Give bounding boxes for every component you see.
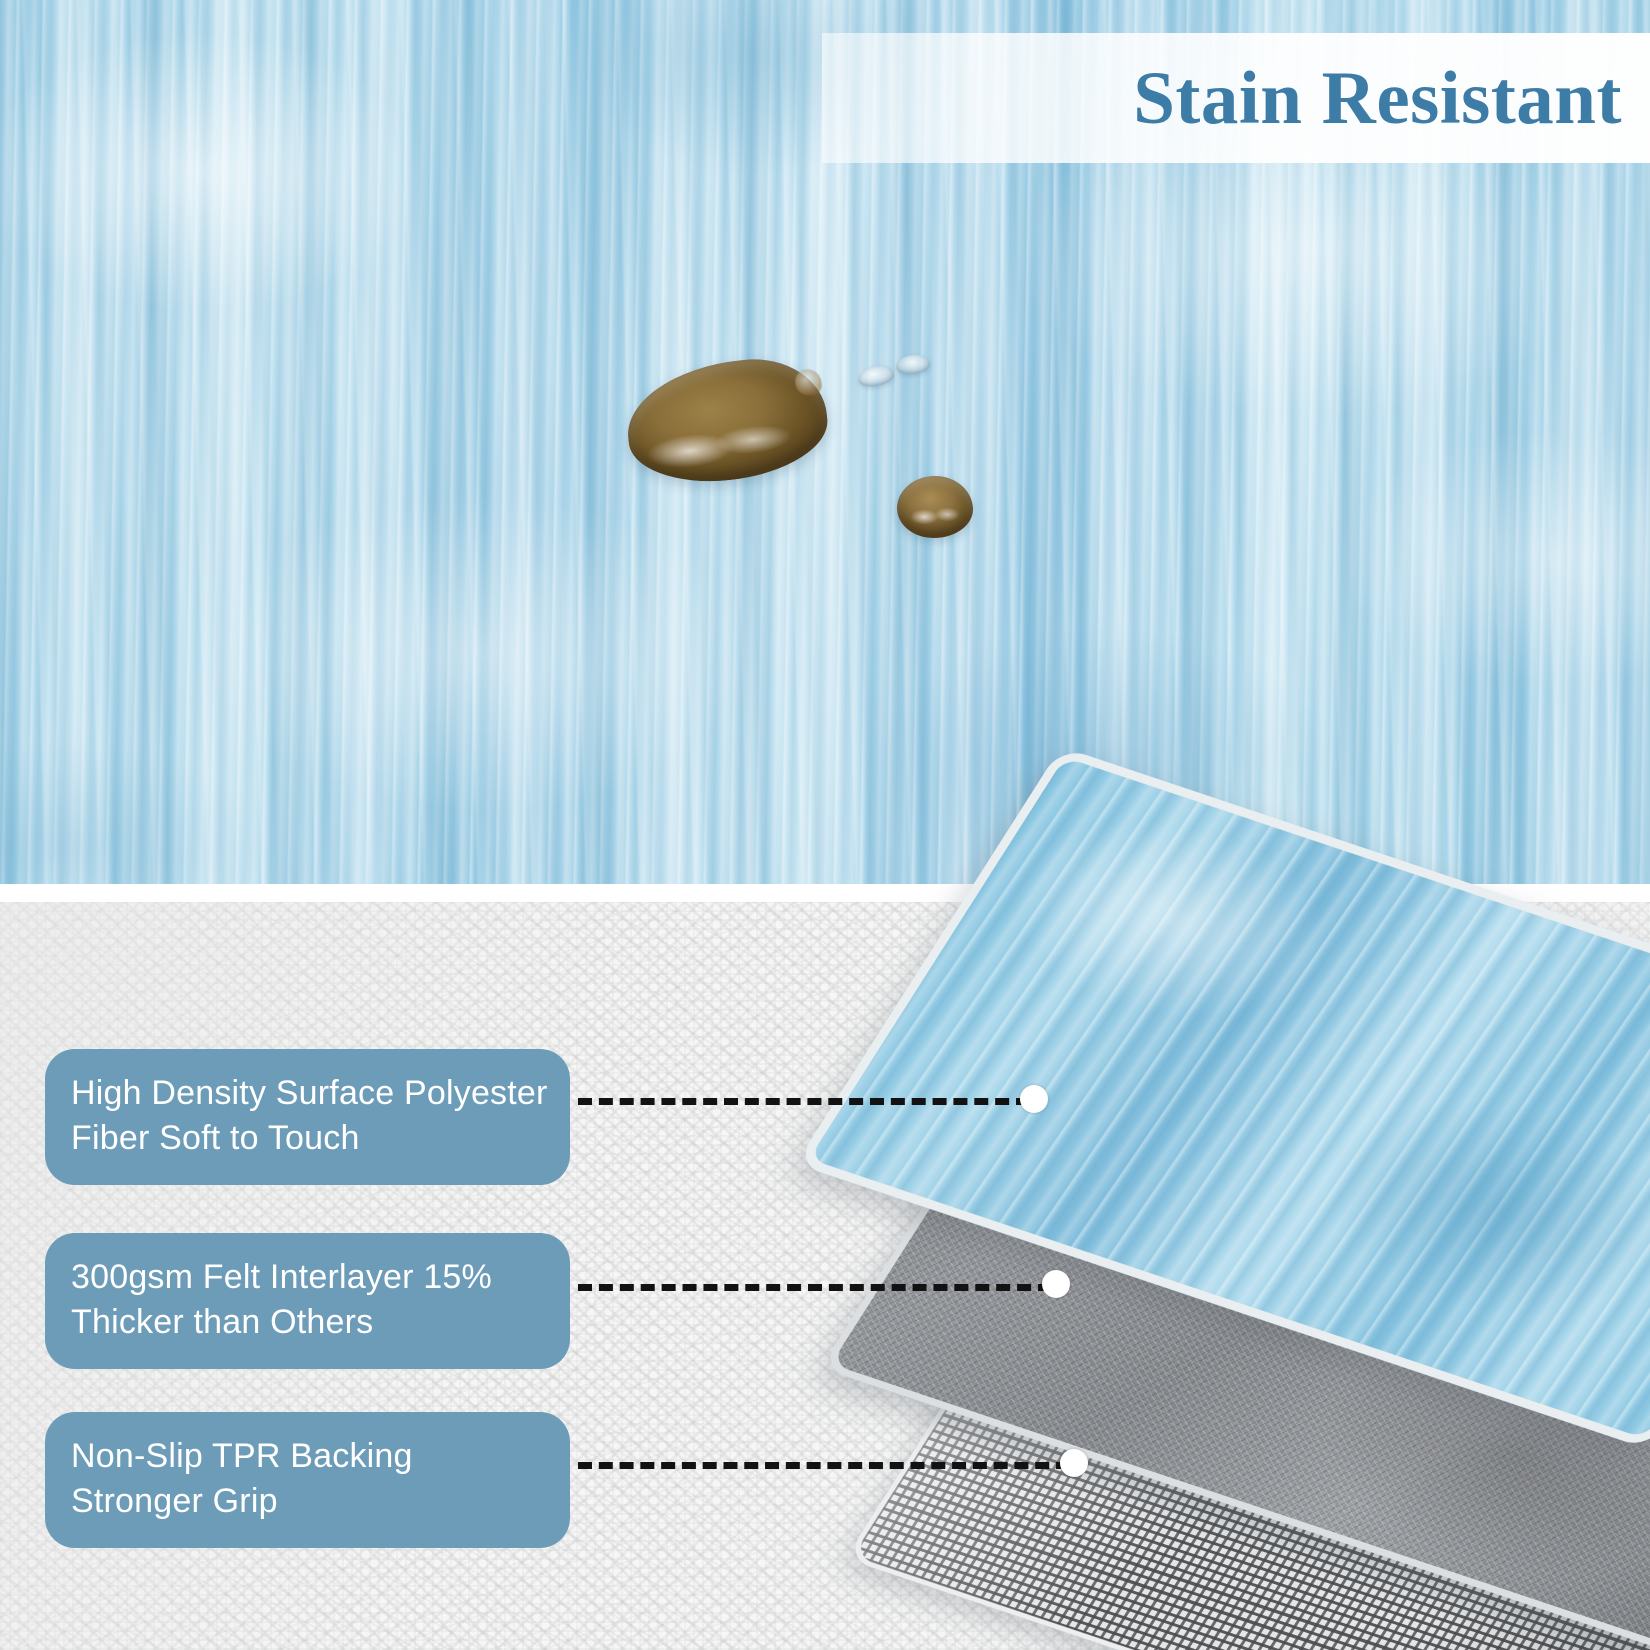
callout-2-line-1: 300gsm Felt Interlayer 15% (71, 1255, 544, 1300)
connector-line-surface (578, 1098, 1030, 1105)
callout-1-line-2: Fiber Soft to Touch (71, 1116, 544, 1161)
callout-1-line-1: High Density Surface Polyester (71, 1071, 544, 1116)
connector-dot-felt (1042, 1270, 1070, 1298)
callout-felt-interlayer: 300gsm Felt Interlayer 15% Thicker than … (45, 1233, 570, 1369)
product-infographic: Stain Resistant High Density Surface Pol… (0, 0, 1650, 1650)
callout-high-density-surface: High Density Surface Polyester Fiber Sof… (45, 1049, 570, 1185)
page-title: Stain Resistant (1133, 61, 1622, 136)
title-banner: Stain Resistant (822, 33, 1650, 163)
callout-tpr-backing: Non-Slip TPR Backing Stronger Grip (45, 1412, 570, 1548)
connector-dot-backing (1060, 1449, 1088, 1477)
callout-2-line-2: Thicker than Others (71, 1300, 544, 1345)
medium-liquid-droplet (897, 476, 973, 538)
callout-3-line-1: Non-Slip TPR Backing (71, 1434, 544, 1479)
connector-dot-surface (1020, 1085, 1048, 1113)
callout-3-line-2: Stronger Grip (71, 1479, 544, 1524)
connector-line-backing (578, 1462, 1070, 1469)
connector-line-felt (578, 1284, 1052, 1291)
stain-resistant-photo-panel: Stain Resistant (0, 0, 1650, 884)
